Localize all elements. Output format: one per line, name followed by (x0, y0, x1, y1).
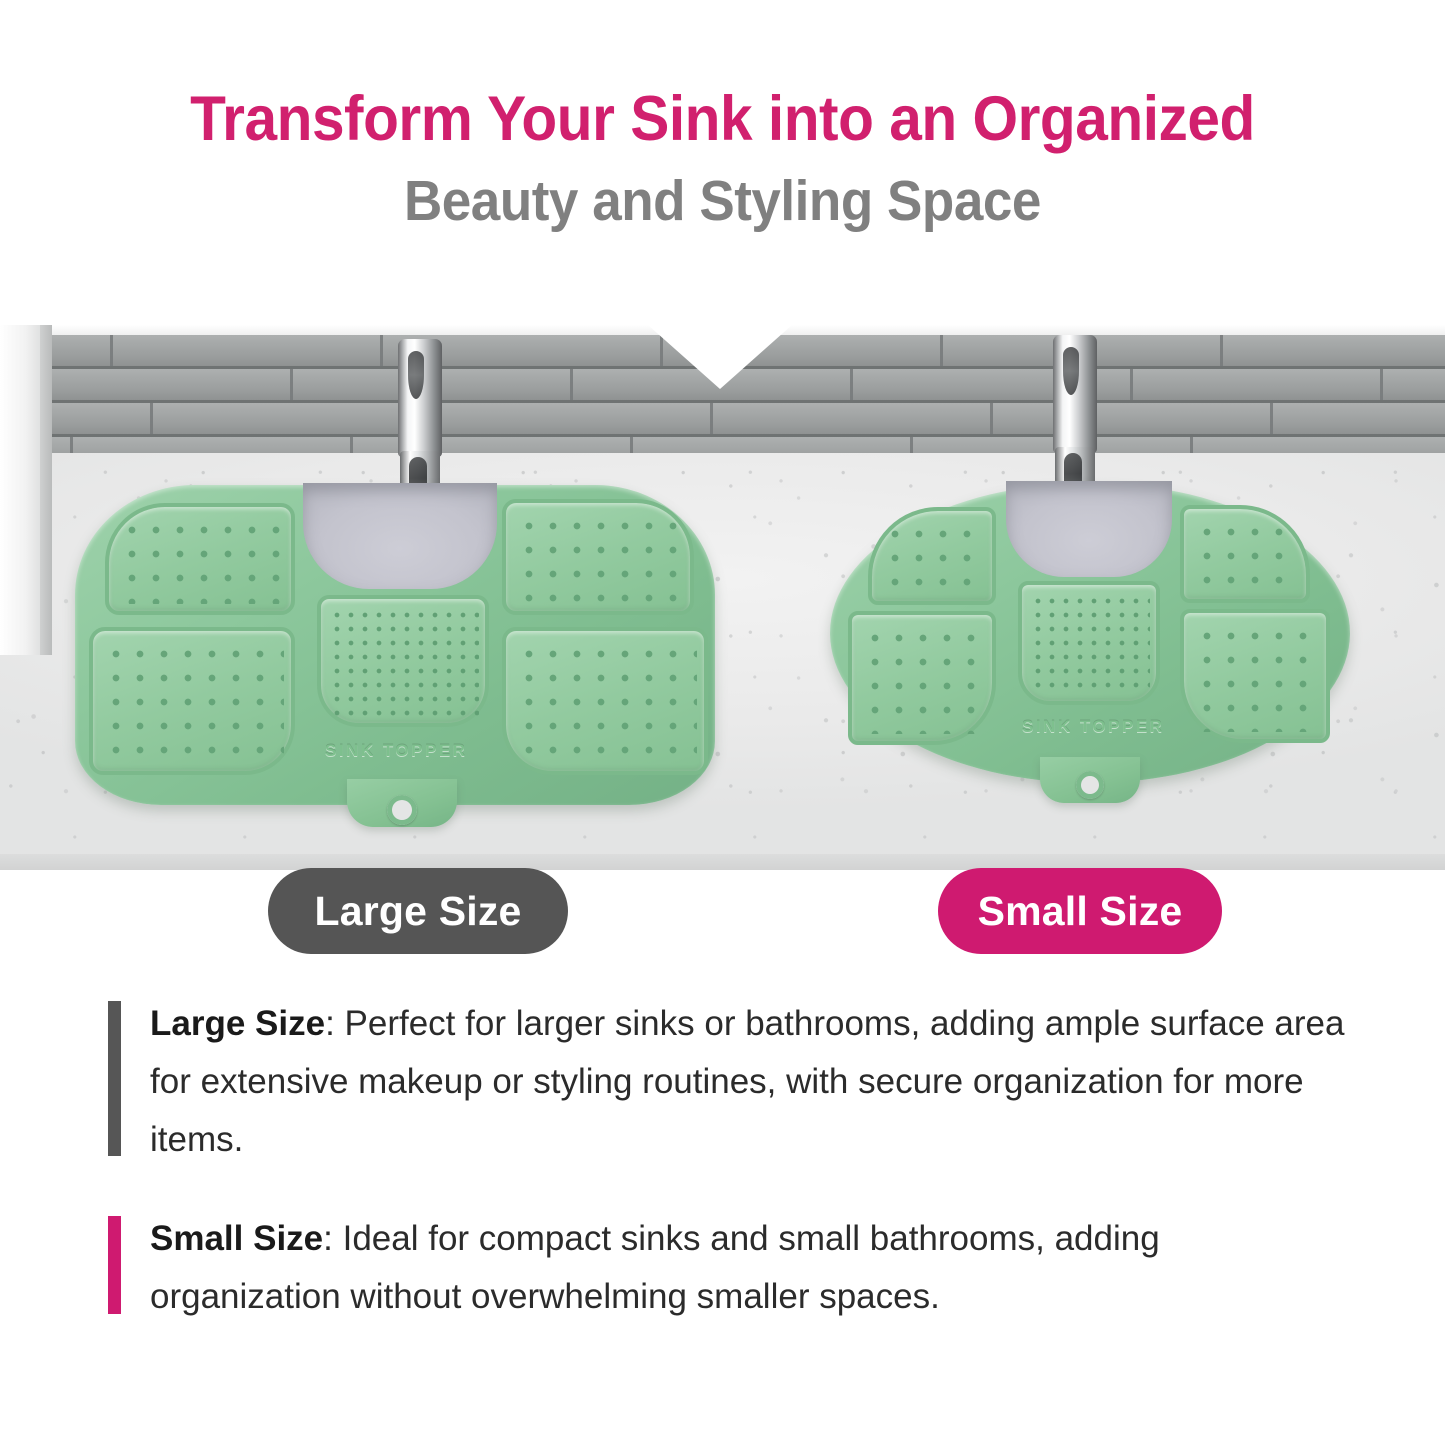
description-list: Large Size: Perfect for larger sinks or … (0, 995, 1445, 1368)
bullet-small-size-separator: : (323, 1219, 342, 1258)
perforation-dots (859, 622, 985, 734)
perforation-dots (879, 518, 985, 594)
bullet-accent-bar-gray (108, 1001, 121, 1156)
left-wall-edge (40, 325, 52, 655)
size-label-small: Small Size (938, 868, 1222, 954)
large-mat-panel-right-upper (502, 499, 694, 615)
size-label-small-text: Small Size (978, 888, 1183, 935)
headline-line-1: Transform Your Sink into an Organized (190, 88, 1255, 151)
small-mat-panel-center-drain (1018, 581, 1160, 705)
small-mat-panel-left-upper (868, 507, 996, 605)
bullet-large-size-title: Large Size (150, 1004, 325, 1043)
bullet-small-size: Small Size: Ideal for compact sinks and … (0, 1210, 1445, 1326)
size-label-large: Large Size (268, 868, 568, 954)
bullet-large-size-text: Large Size: Perfect for larger sinks or … (150, 995, 1355, 1168)
perforation-dots (1191, 516, 1299, 592)
perforation-dots (116, 514, 284, 604)
faucet-neck (1053, 335, 1097, 453)
bullet-large-size: Large Size: Perfect for larger sinks or … (0, 995, 1445, 1168)
small-mat-basin-cutout (1006, 481, 1172, 577)
counter-front-edge (0, 854, 1445, 870)
large-mat-tab-hole (387, 795, 417, 825)
small-mat-panel-left-lower (848, 611, 996, 745)
small-mat-panel-right-upper (1180, 505, 1310, 603)
perforation-dots (513, 638, 697, 764)
bullet-accent-bar-pink (108, 1216, 121, 1314)
size-label-large-text: Large Size (314, 888, 521, 935)
speech-bubble-notch-icon (648, 325, 792, 389)
headline-block: Transform Your Sink into an Organized Be… (0, 0, 1445, 310)
large-mat-panel-right-lower (502, 627, 708, 775)
bullet-large-size-separator: : (325, 1004, 344, 1043)
mat-brand-text: SINK TOPPER (325, 741, 467, 761)
perforation-dots-fine (1028, 591, 1150, 695)
perforation-dots-fine (327, 605, 479, 717)
large-sink-topper-mat: SINK TOPPER (75, 485, 715, 805)
large-mat-basin-cutout (303, 483, 497, 589)
small-mat-panel-right-lower (1180, 609, 1330, 743)
small-sink-topper-mat: SINK TOPPER (830, 483, 1350, 783)
large-mat-panel-left-lower (89, 627, 295, 775)
tile-row (0, 403, 1445, 437)
perforation-dots (100, 638, 284, 764)
product-photo: SINK TOPPER SINK TOPPER (0, 325, 1445, 870)
perforation-dots (513, 510, 683, 604)
mat-brand-text: SINK TOPPER (1022, 717, 1164, 737)
perforation-dots (1191, 620, 1319, 732)
small-mat-tab-hole (1076, 771, 1104, 799)
bullet-small-size-text: Small Size: Ideal for compact sinks and … (150, 1210, 1355, 1326)
headline-line-2: Beauty and Styling Space (404, 173, 1041, 230)
large-mat-panel-left-upper (105, 503, 295, 615)
large-mat-panel-center-drain (317, 595, 489, 727)
bullet-small-size-title: Small Size (150, 1219, 323, 1258)
faucet-neck (398, 339, 442, 457)
